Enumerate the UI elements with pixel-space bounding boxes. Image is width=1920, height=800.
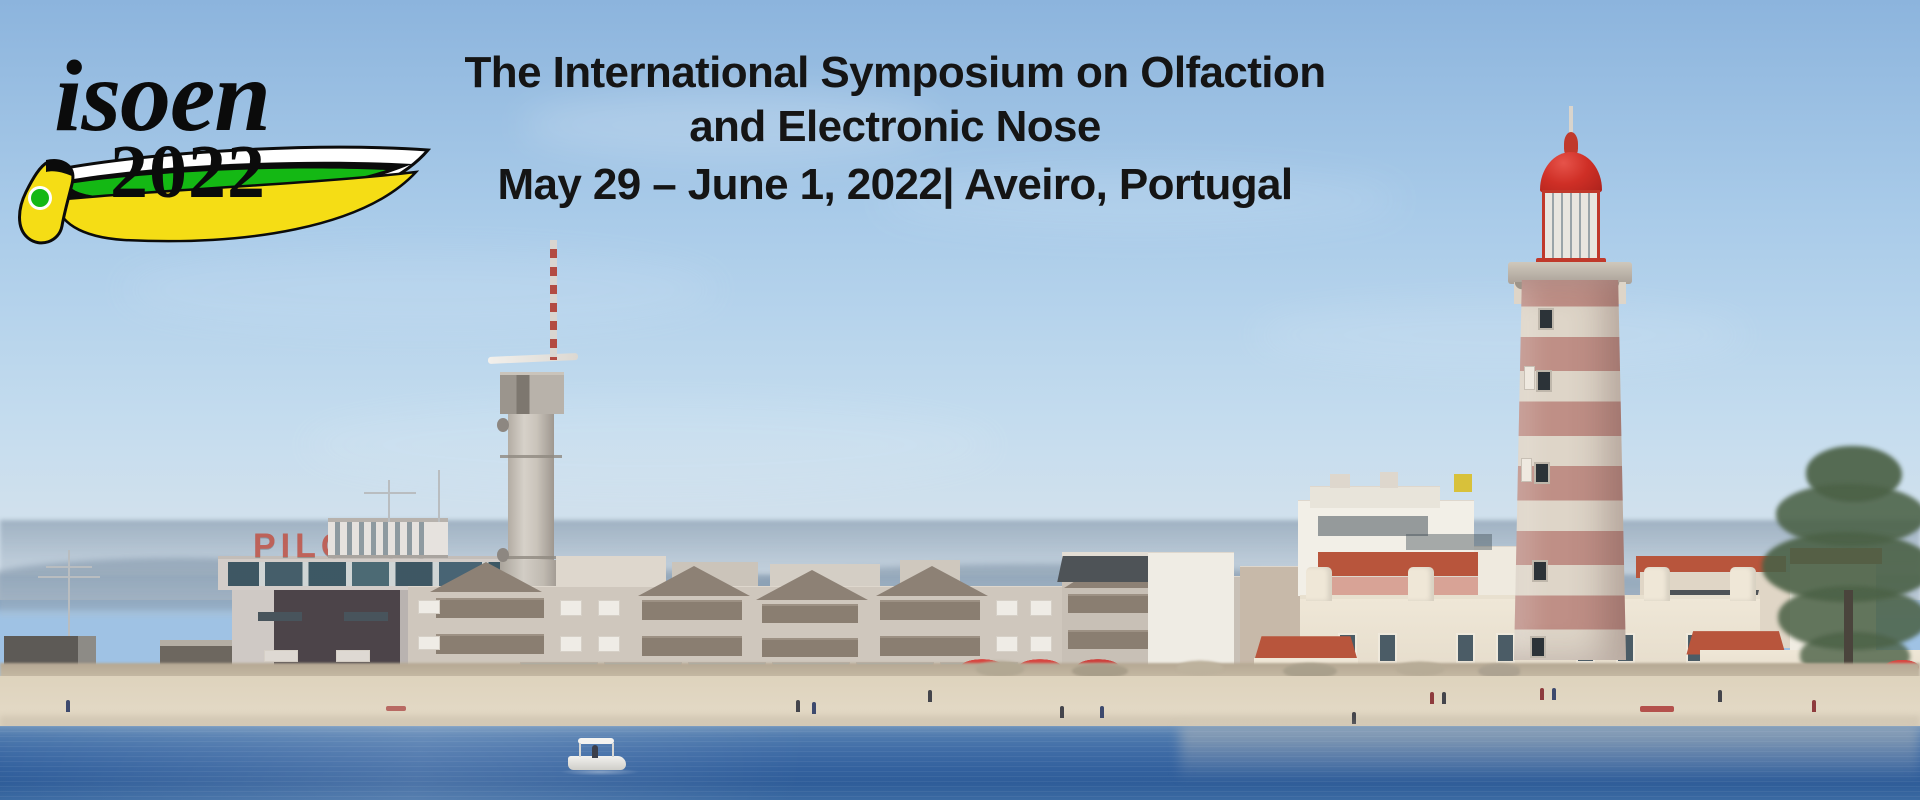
- lighthouse-shutter: [1524, 366, 1535, 390]
- lighthouse-window: [1532, 560, 1548, 582]
- lighthouse-window: [1530, 636, 1546, 658]
- canopy-post: [579, 743, 581, 757]
- cloud-wisp: [120, 250, 720, 330]
- pilot-station-railing: [328, 518, 448, 558]
- boat-canopy: [578, 738, 614, 744]
- crane-icon: [1454, 474, 1472, 492]
- lantern-room: [1542, 190, 1600, 266]
- beach-towel: [386, 706, 406, 711]
- logo-year: 2022: [110, 134, 266, 210]
- boat-passenger: [592, 745, 598, 758]
- headline-dates-location: May 29 – June 1, 2022| Aveiro, Portugal: [330, 158, 1460, 212]
- lighthouse-shutter: [1521, 458, 1532, 482]
- water-surface-texture: [0, 726, 1920, 800]
- headline-line-1: The International Symposium on Olfaction: [330, 46, 1460, 100]
- pine-tree: [1760, 440, 1920, 680]
- beach-towel: [1640, 706, 1674, 712]
- headline-line-2: and Electronic Nose: [330, 100, 1460, 154]
- canopy-post: [612, 743, 614, 757]
- cloud-wisp: [300, 400, 1000, 490]
- barra-lighthouse: [1500, 40, 1640, 660]
- conference-headline: The International Symposium on Olfaction…: [330, 46, 1460, 212]
- lighthouse-window: [1536, 370, 1552, 392]
- lighthouse-window: [1538, 308, 1554, 330]
- small-motorboat: [568, 738, 628, 772]
- lighthouse-window: [1534, 462, 1550, 484]
- boat-hull: [568, 756, 626, 770]
- radar-mast: [550, 240, 557, 360]
- isoen-2022-conference-banner: PILOTOS: [0, 0, 1920, 800]
